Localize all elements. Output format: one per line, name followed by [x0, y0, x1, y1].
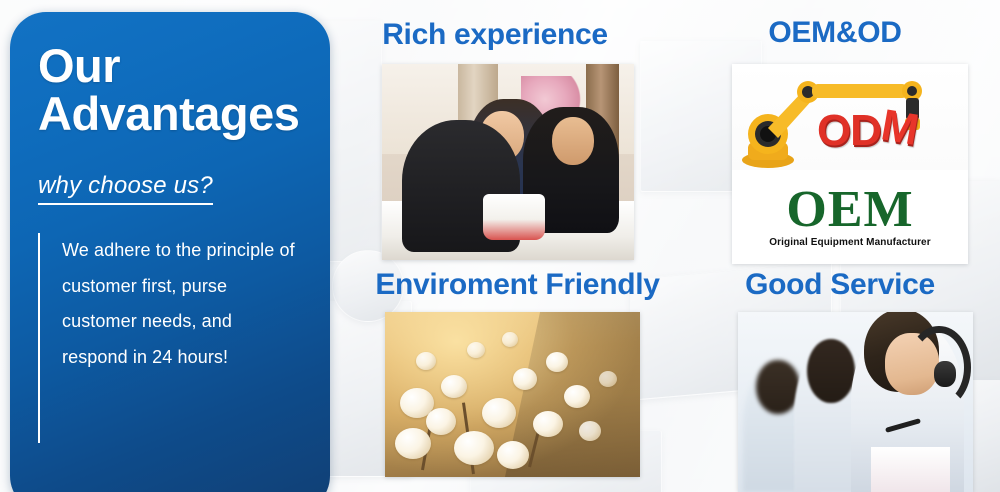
panel-body-text: We adhere to the principle of customer f… — [62, 233, 300, 443]
oem-caption: Original Equipment Manufacturer — [769, 237, 930, 248]
panel-subtitle: why choose us? — [38, 172, 213, 205]
card-title-rich-experience: Rich experience — [350, 20, 640, 50]
card-title-good-service: Good Service — [700, 270, 980, 300]
our-advantages-banner: Our Advantages why choose us? We adhere … — [0, 0, 1000, 492]
card-title-oem-odm: OEM&OD — [690, 18, 980, 48]
page-title-line2: Advantages — [38, 90, 308, 138]
oem-logo-section: OEM Original Equipment Manufacturer — [732, 170, 968, 264]
photo-business-meeting — [382, 64, 634, 260]
card-environment-friendly: Enviroment Friendly — [345, 270, 690, 477]
panel-body-wrap: We adhere to the principle of customer f… — [38, 233, 308, 443]
photo-oem-odm-logo: ODM OEM Original Equipment Manufacturer — [732, 64, 968, 264]
odm-logo-section: ODM — [732, 64, 968, 170]
card-good-service: Good Service — [700, 270, 980, 492]
vertical-rule-divider — [38, 233, 40, 443]
odm-wordmark: ODM — [817, 106, 917, 156]
page-title-line1: Our — [38, 39, 120, 92]
card-title-environment-friendly: Enviroment Friendly — [345, 270, 690, 300]
advantages-panel: Our Advantages why choose us? We adhere … — [10, 12, 330, 492]
photo-cotton-field — [385, 312, 640, 477]
odm-letter-m: M — [877, 101, 921, 156]
odm-letters-od: OD — [817, 106, 881, 155]
card-oem-odm: OEM&OD — [690, 18, 980, 264]
photo-call-center — [738, 312, 973, 492]
oem-wordmark: OEM — [786, 186, 913, 234]
card-rich-experience: Rich experience — [350, 20, 640, 260]
page-title: Our Advantages — [38, 42, 308, 138]
